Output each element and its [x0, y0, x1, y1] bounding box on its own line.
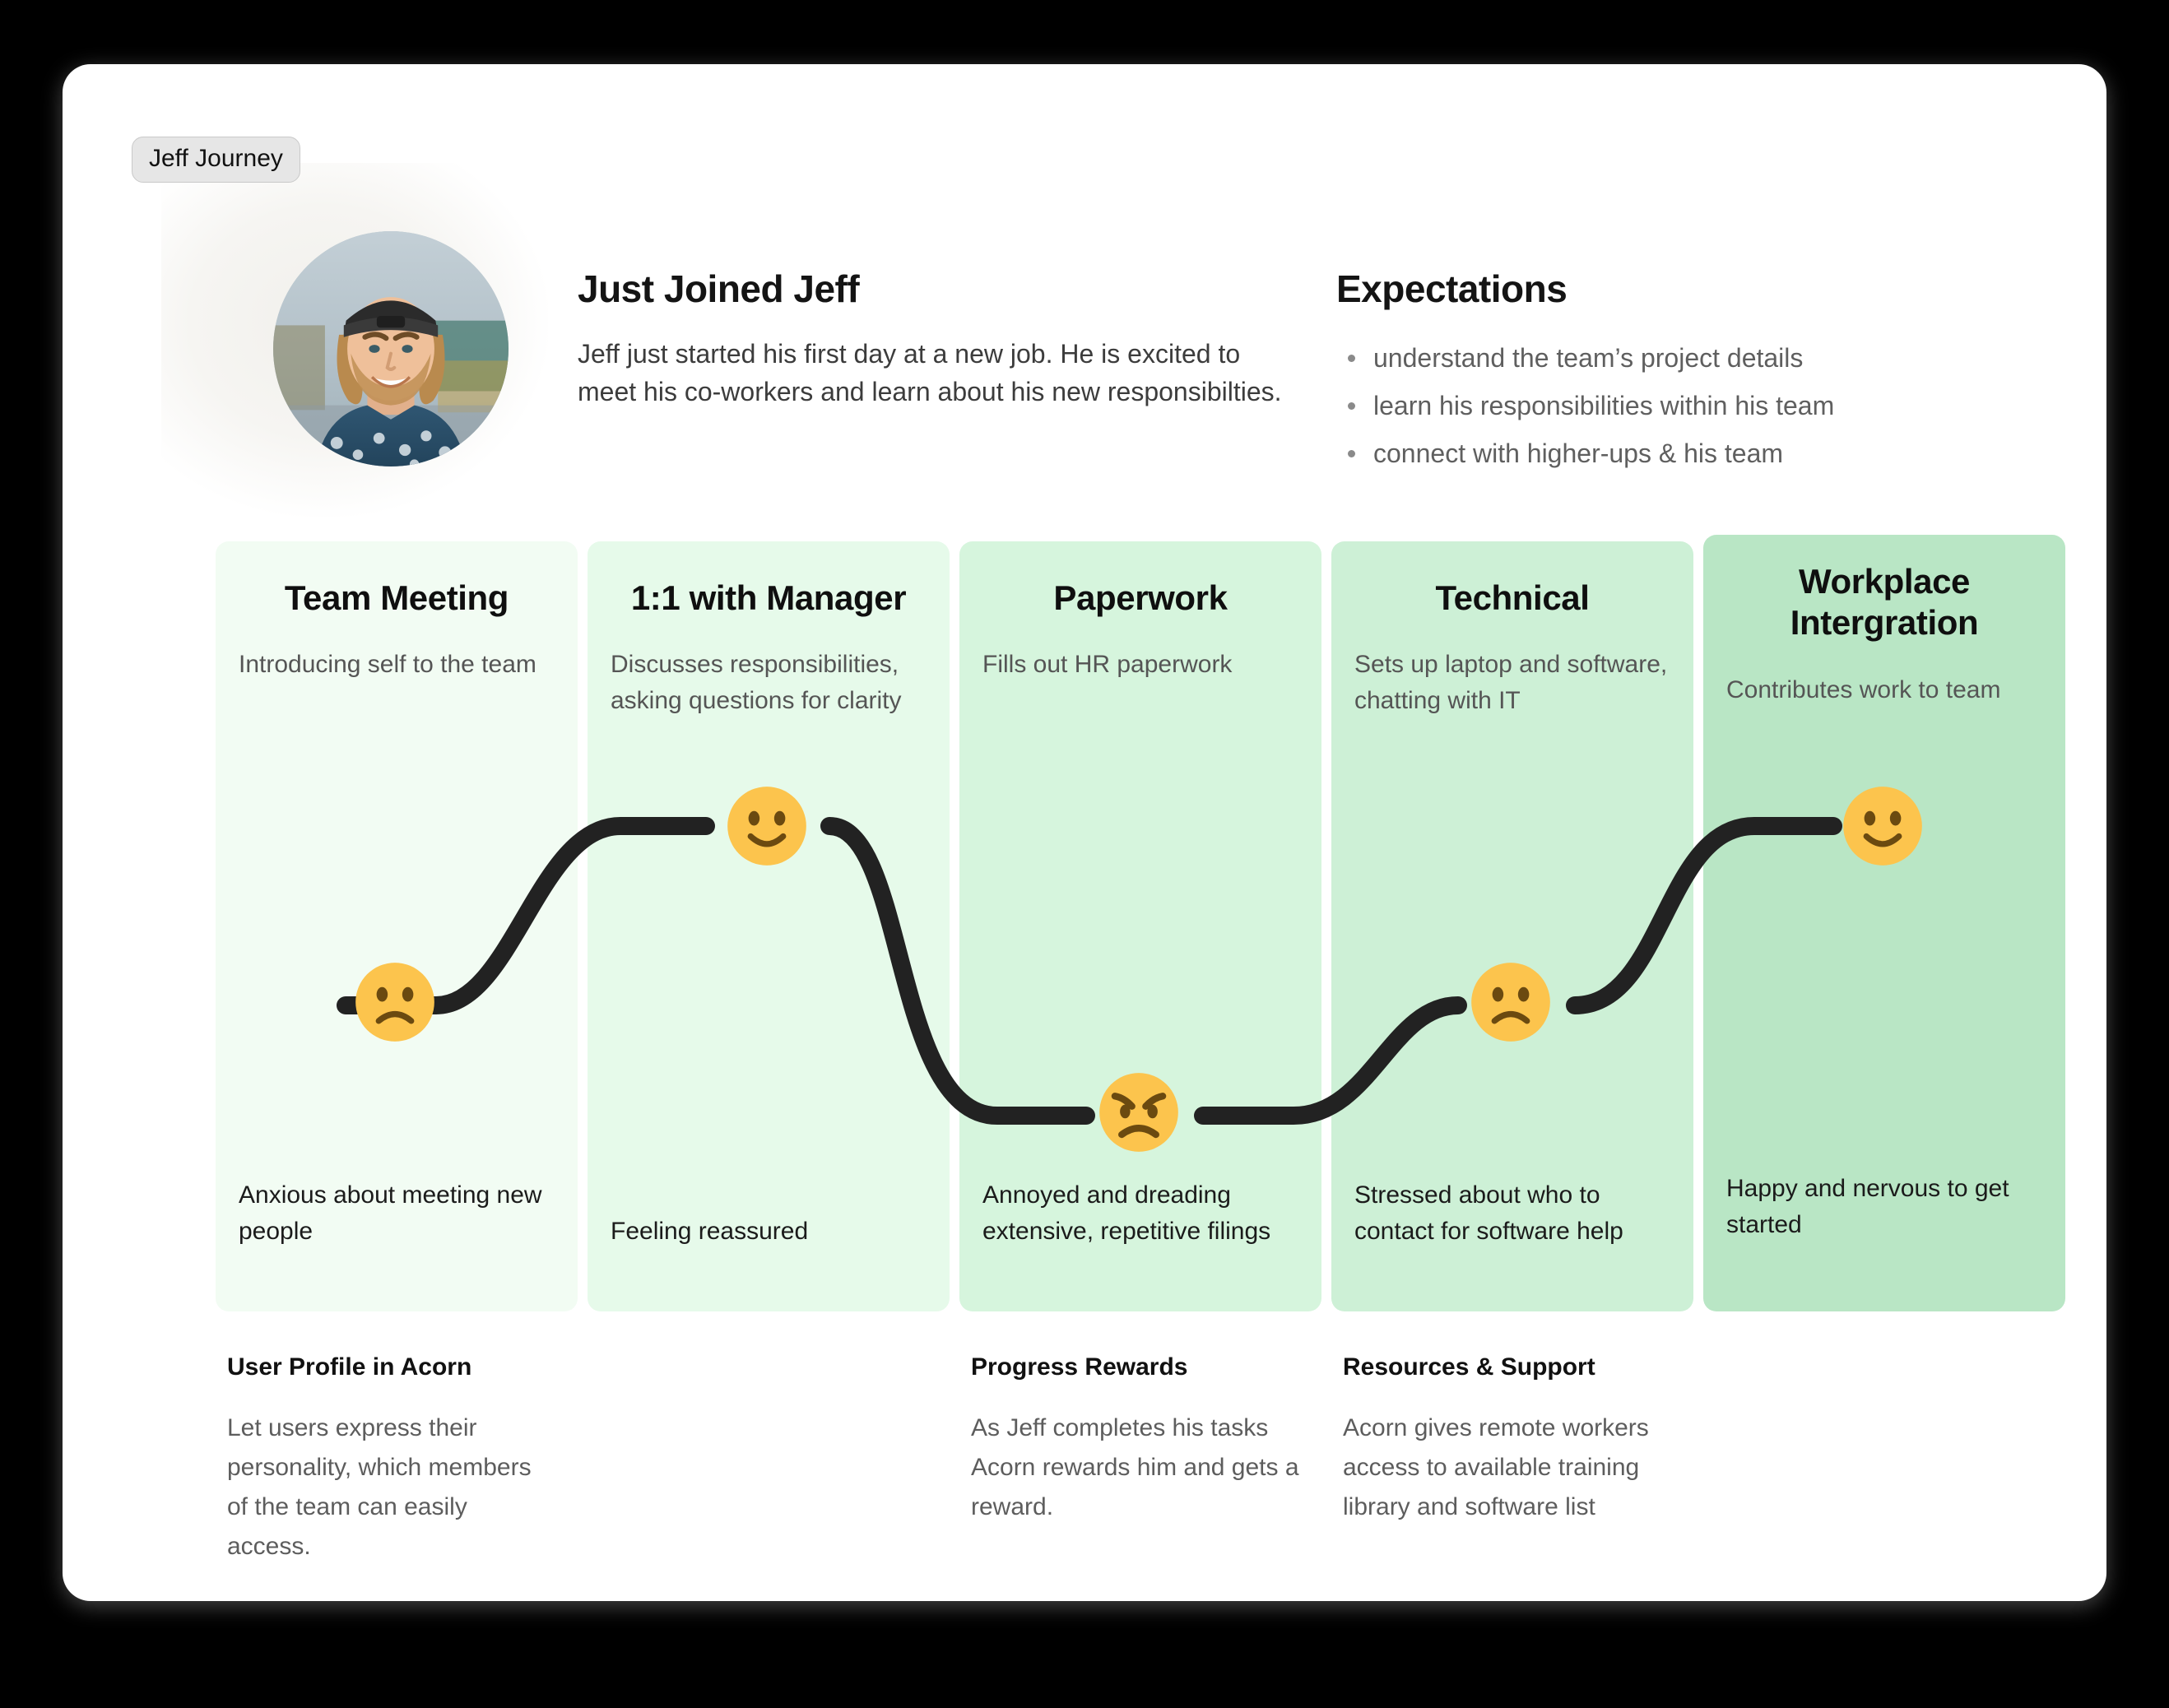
stage-action: Discusses responsibilities, asking quest… — [611, 647, 927, 718]
expectations-title: Expectations — [1336, 268, 2077, 310]
title-tag[interactable]: Jeff Journey — [132, 137, 300, 183]
expectation-item: learn his responsibilities within his te… — [1336, 392, 2077, 419]
persona-title: Just Joined Jeff — [578, 268, 1302, 310]
persona-summary: Just Joined Jeff Jeff just started his f… — [578, 268, 1302, 411]
stage-column-workplace-intergration[interactable]: Workplace Intergration Contributes work … — [1703, 535, 2065, 1311]
journey-stage-columns: Team Meeting Introducing self to the tea… — [216, 535, 2077, 1311]
opportunity-progress-rewards: Progress Rewards As Jeff completes his t… — [971, 1353, 1300, 1527]
expectations-block: Expectations understand the team’s proje… — [1336, 268, 2077, 488]
persona-body: Jeff just started his first day at a new… — [578, 335, 1302, 411]
journey-map-card: Jeff Journey — [63, 64, 2106, 1601]
opportunity-user-profile: User Profile in Acorn Let users express … — [227, 1353, 556, 1566]
stage-action: Fills out HR paperwork — [982, 647, 1298, 683]
stage-feeling: Annoyed and dreading extensive, repetiti… — [982, 1177, 1298, 1249]
screen-canvas: Jeff Journey — [0, 0, 2169, 1708]
opportunity-body: Let users express their personality, whi… — [227, 1409, 556, 1566]
opportunity-resources-support: Resources & Support Acorn gives remote w… — [1343, 1353, 1697, 1527]
stage-column-technical[interactable]: Technical Sets up laptop and software, c… — [1331, 541, 1693, 1311]
stage-column-one-on-one[interactable]: 1:1 with Manager Discusses responsibilit… — [588, 541, 950, 1311]
opportunity-body: As Jeff completes his tasks Acorn reward… — [971, 1409, 1300, 1527]
stage-action: Introducing self to the team — [239, 647, 555, 683]
stage-title: 1:1 with Manager — [611, 578, 927, 619]
opportunity-title: Resources & Support — [1343, 1353, 1697, 1382]
expectation-item: understand the team’s project details — [1336, 345, 2077, 371]
avatar — [273, 231, 509, 466]
opportunity-body: Acorn gives remote workers access to ava… — [1343, 1409, 1697, 1527]
expectations-list: understand the team’s project details le… — [1336, 345, 2077, 466]
stage-title: Paperwork — [982, 578, 1298, 619]
expectation-item: connect with higher-ups & his team — [1336, 440, 2077, 466]
stage-feeling: Feeling reassured — [611, 1214, 927, 1250]
stage-feeling: Happy and nervous to get started — [1726, 1171, 2042, 1242]
stage-title: Workplace Intergration — [1726, 561, 2042, 644]
stage-title: Team Meeting — [239, 578, 555, 619]
stage-column-paperwork[interactable]: Paperwork Fills out HR paperwork Annoyed… — [959, 541, 1321, 1311]
stage-feeling: Stressed about who to contact for softwa… — [1354, 1177, 1670, 1249]
stage-action: Sets up laptop and software, chatting wi… — [1354, 647, 1670, 718]
opportunity-title: User Profile in Acorn — [227, 1353, 556, 1382]
stage-feeling: Anxious about meeting new people — [239, 1177, 555, 1249]
opportunity-title: Progress Rewards — [971, 1353, 1300, 1382]
stage-column-team-meeting[interactable]: Team Meeting Introducing self to the tea… — [216, 541, 578, 1311]
stage-action: Contributes work to team — [1726, 672, 2042, 708]
stage-title: Technical — [1354, 578, 1670, 619]
